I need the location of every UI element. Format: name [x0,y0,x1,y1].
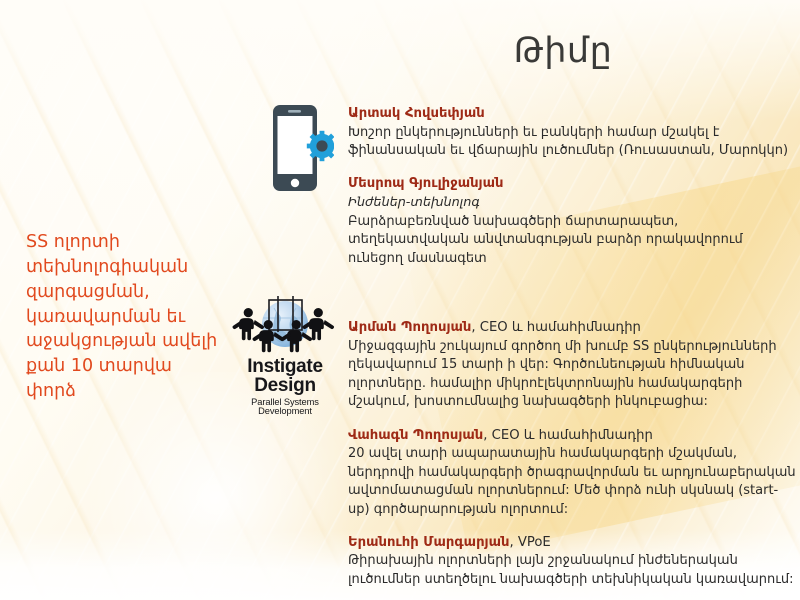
bio-entry: Երանուհի Մարգարյան, VPoE Թիրախային ոլորտ… [348,533,796,589]
bio-person-role: , CEO և համահիմնադիր [483,428,653,443]
bio-heading: Արման Պողոսյան, CEO և համահիմնադիր [348,318,796,338]
bio-entry: Արման Պողոսյան, CEO և համահիմնադիր Միջազ… [348,318,796,411]
spacer [348,282,796,284]
bio-entry: Արտակ Հովսեփյան Խոշոր ընկերությունների ե… [348,104,796,160]
logo-tagline: Parallel Systems Development [224,398,346,417]
bio-subtitle: Ինժեներ-տեխնոլոգ [348,194,796,213]
bio-person-name: Վահագն Պողոսյան [348,428,483,443]
bio-description: Միջազգային շուկայում գործող մի խումբ SS … [348,338,796,412]
bio-heading: Մեսրոպ Գյուլիջանյան [348,174,796,194]
page-title: Թիմը [348,32,778,71]
bio-person-role: , CEO և համահիմնադիր [471,320,641,335]
bio-entry: Վահագն Պողոսյան, CEO և համահիմնադիր 20 ա… [348,426,796,519]
bio-heading: Երանուհի Մարգարյան, VPoE [348,533,796,553]
bio-person-name: Մեսրոպ Գյուլիջանյան [348,176,503,191]
bio-heading: Արտակ Հովսեփյան [348,104,796,124]
bio-person-role: , VPoE [509,535,550,550]
bio-description: Բարձրաբեռնված նախագծերի ճարտարապետ, տեղե… [348,213,796,268]
bio-person-name: Արման Պողոսյան [348,320,471,335]
logo-company-name: Instigate Design [224,357,346,395]
team-bio-list: Արտակ Հովսեփյան Խոշոր ընկերությունների ե… [348,104,796,589]
bio-description: Թիրախային ոլորտների լայն շրջանակում ինժե… [348,552,796,589]
mobile-phone-gear-icon [272,104,334,192]
bio-heading: Վահագն Պողոսյան, CEO և համահիմնադիր [348,426,796,446]
globe-with-people-icon [224,292,346,356]
company-logo: Instigate Design Parallel Systems Develo… [224,292,346,392]
bio-person-name: Արտակ Հովսեփյան [348,106,485,121]
bio-description: 20 ավել տարի ապարատային համակարգերի մշակ… [348,445,796,519]
left-callout-text: SS ոլորտի տեխնոլոգիական զարգացման, կառավ… [26,230,222,404]
bio-person-name: Երանուհի Մարգարյան [348,535,509,550]
bio-description: Խոշոր ընկերությունների եւ բանկերի համար … [348,124,796,161]
slide-canvas: Թիմը SS ոլորտի տեխնոլոգիական զարգացման, … [0,0,800,600]
bio-entry: Մեսրոպ Գյուլիջանյան Ինժեներ-տեխնոլոգ Բար… [348,174,796,268]
